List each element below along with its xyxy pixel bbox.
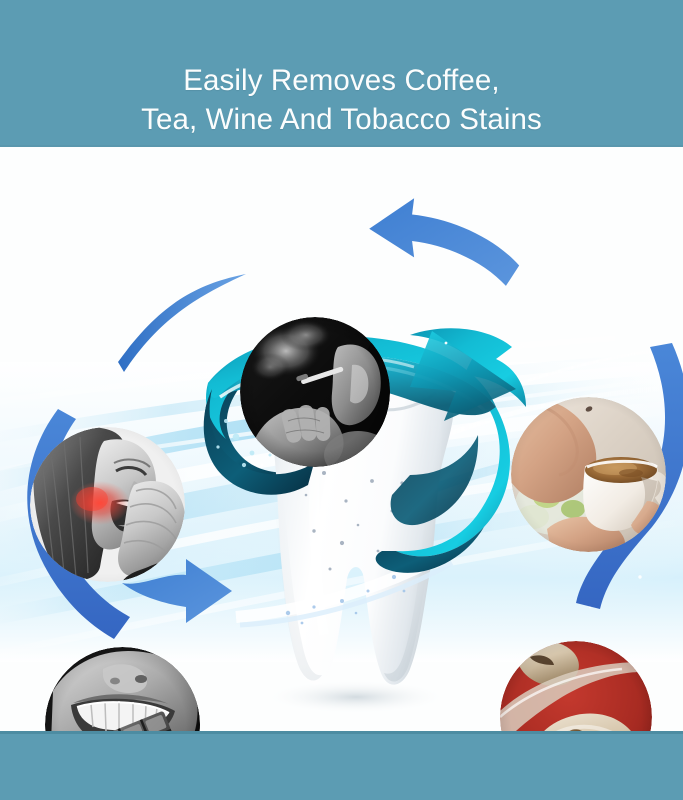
circle-coffee[interactable] (511, 397, 666, 552)
smoking-photo (240, 317, 390, 467)
arrow-coffee-to-smoking (369, 198, 519, 286)
circle-smoking[interactable] (240, 317, 390, 467)
toothache-photo (30, 427, 185, 582)
content-stage (0, 147, 683, 732)
poster-root: Easily Removes Coffee, Tea, Wine And Tob… (0, 0, 683, 800)
page-title: Easily Removes Coffee, Tea, Wine And Tob… (141, 61, 542, 139)
footer-band (0, 734, 683, 800)
header-band: Easily Removes Coffee, Tea, Wine And Tob… (0, 0, 683, 147)
circle-toothache[interactable] (30, 427, 185, 582)
coffee-photo (511, 397, 666, 552)
